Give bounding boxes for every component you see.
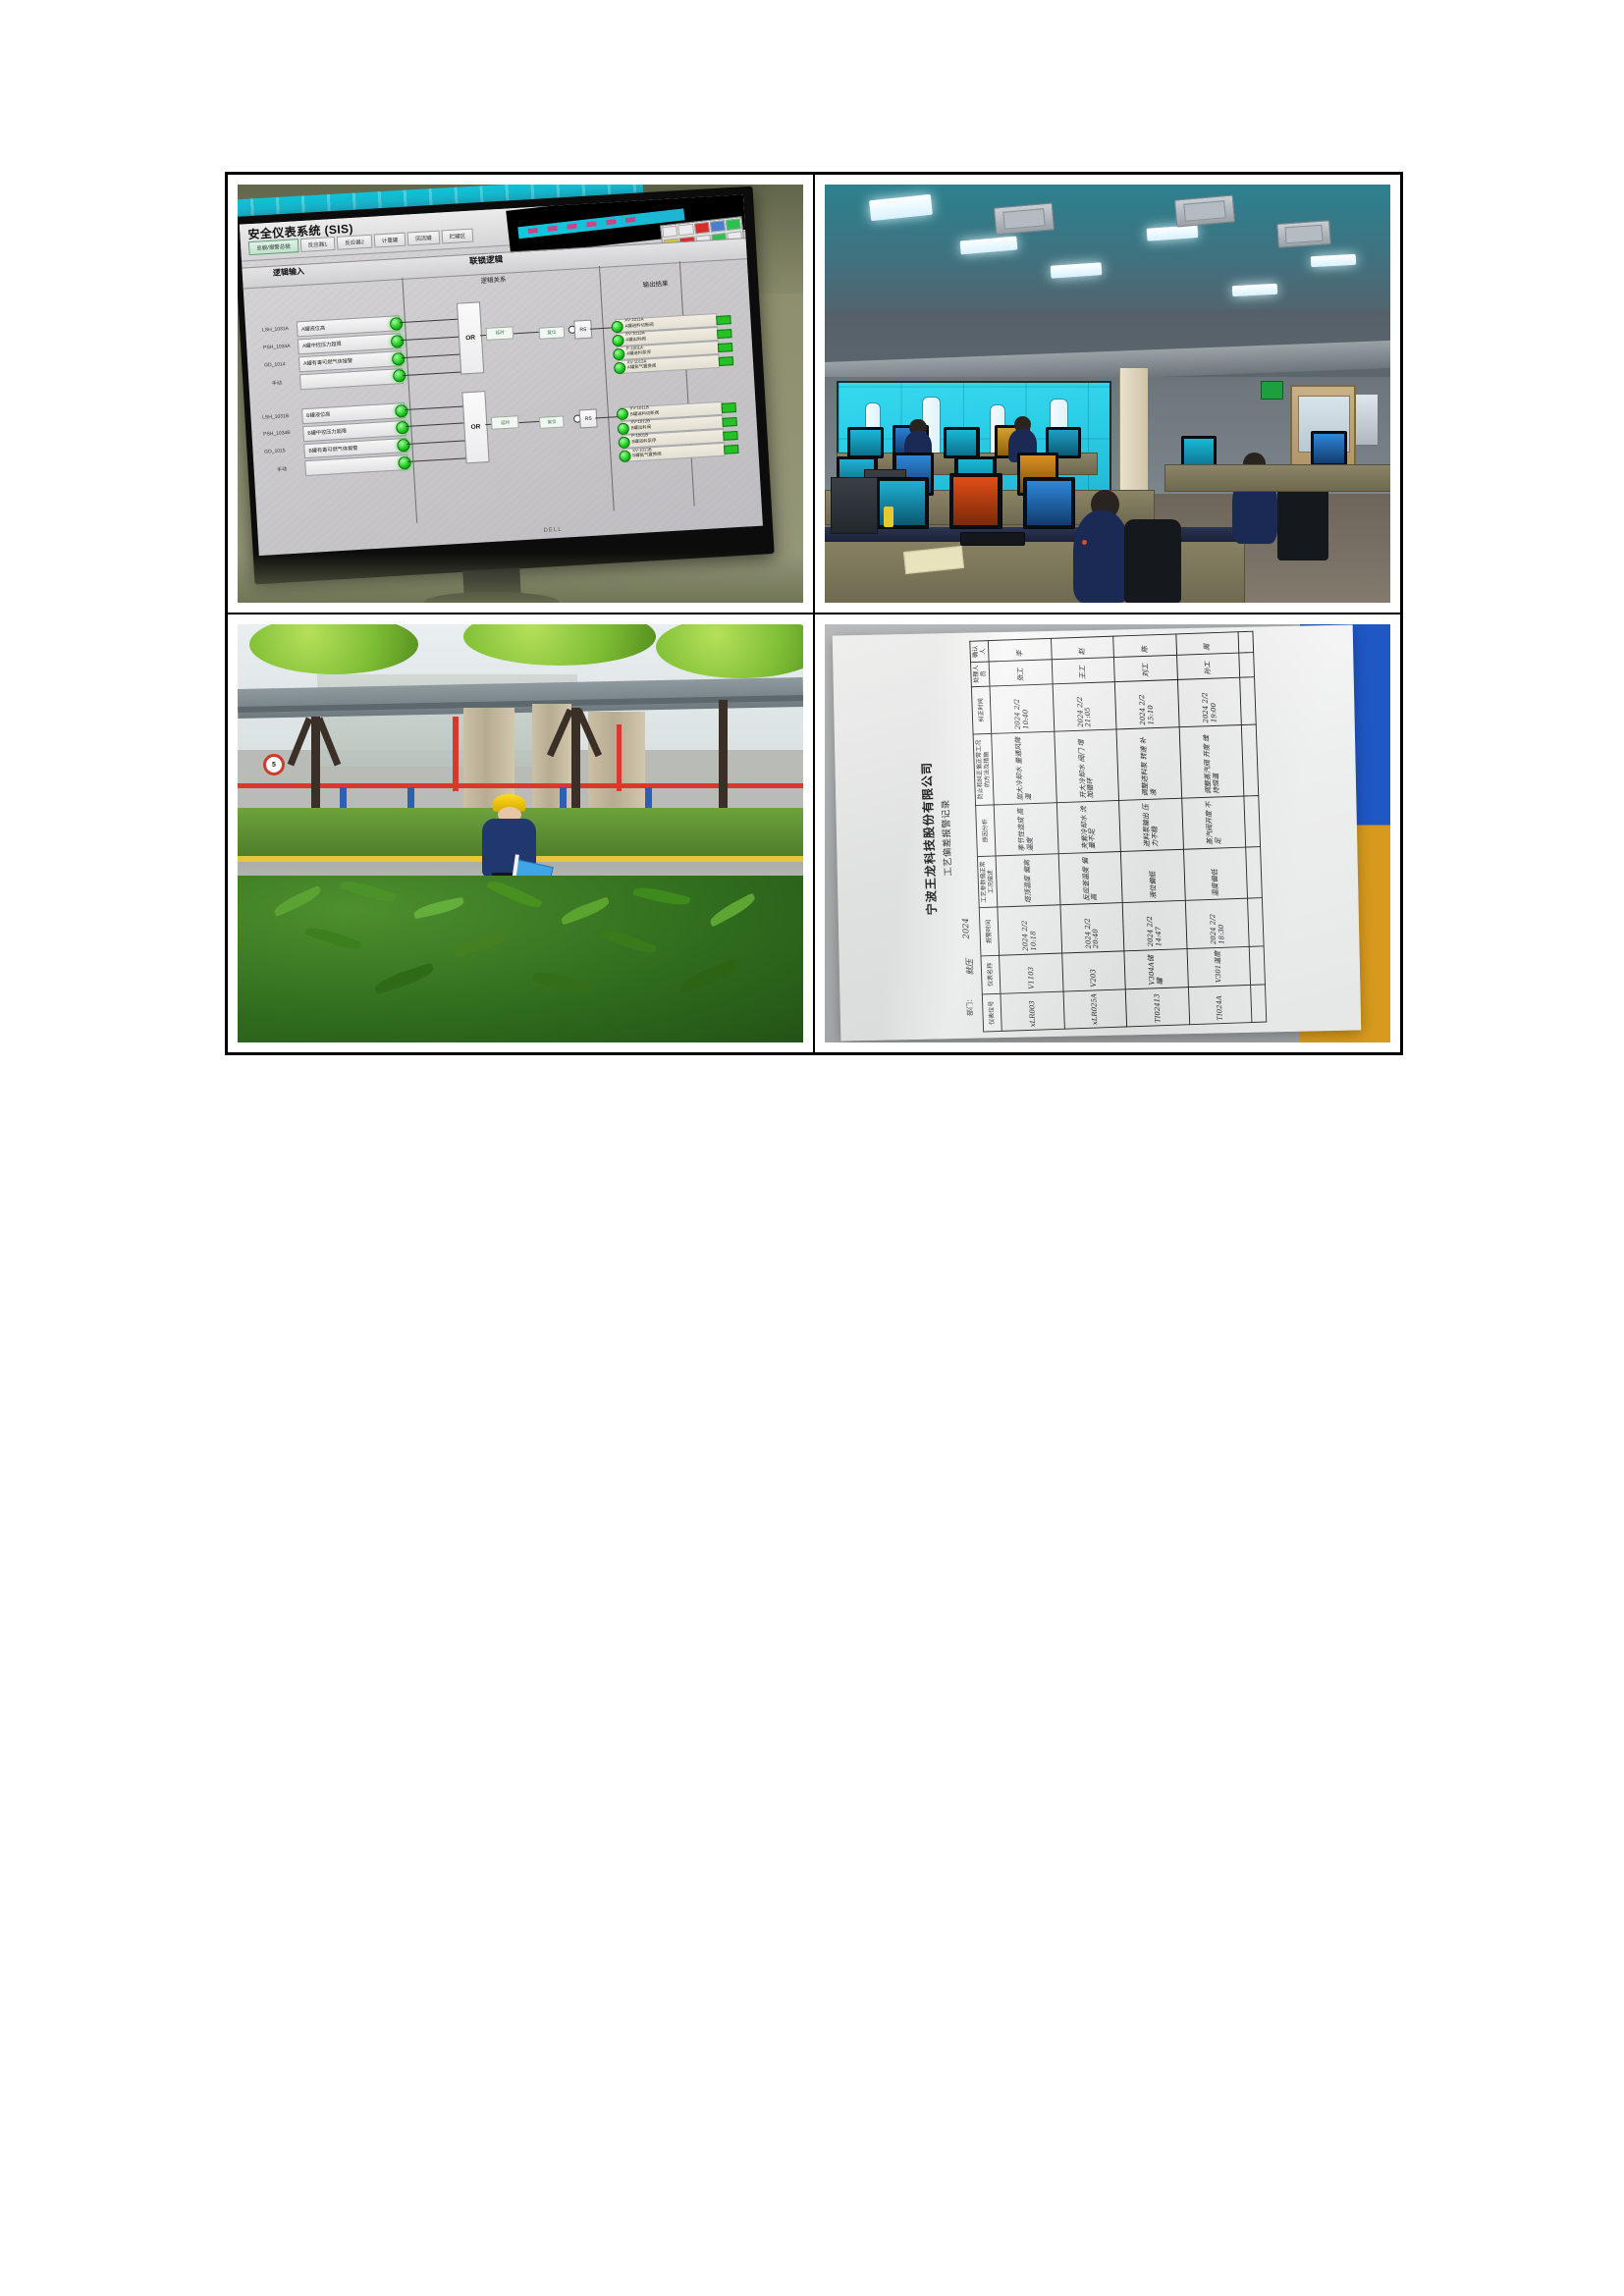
cell-deviation: [1245, 847, 1261, 899]
cell-handler: 王工: [1051, 658, 1114, 684]
input-label: B罐液位高: [302, 411, 331, 420]
output-desc: B罐氮气置换阀: [632, 452, 662, 458]
cell-confirm: 李: [988, 639, 1051, 662]
home-icon[interactable]: [661, 225, 677, 237]
output-status-led: [618, 436, 630, 449]
output-desc: B罐出料阀: [630, 424, 651, 430]
output-state-chip: [724, 445, 738, 454]
cell-handler: 张工: [988, 660, 1052, 686]
signal-wire: [405, 405, 465, 410]
input-label: A罐液位高: [298, 324, 326, 333]
output-label: P-1001BB罐进料泵停: [631, 432, 656, 444]
signal-wire: [401, 336, 461, 341]
col-instrument-name: 仪表名称: [980, 956, 1000, 995]
cell-correct-time: 2024 2/2 15:10: [1114, 680, 1178, 730]
col-alarm-time: 报警时间: [979, 908, 999, 956]
input-tag: PSH_1034B: [263, 430, 291, 438]
col-correction-time: 纠正时间: [971, 686, 991, 734]
output-label: XV-1013BB罐氮气置换阀: [632, 446, 662, 458]
cell-alarm-time: 2024 2/2 10:18: [997, 906, 1060, 956]
cell-cause: [1244, 796, 1260, 847]
cell-correct-time: [1239, 677, 1255, 725]
roadside-tree: [249, 624, 419, 750]
document-page: 安全仪表系统 (SIS) 总貌/报警总貌 反应器1 反应器2 计量罐 回流罐 贮…: [0, 0, 1624, 2296]
cell-cause: 季节性造成 高 温度: [994, 803, 1058, 856]
outdoor-scene: 5: [238, 624, 803, 1042]
cell-tag: xLR025A: [1062, 989, 1126, 1030]
cell-cause: 夹套冷却水 流量不足: [1056, 801, 1120, 854]
operator-monitor: [944, 427, 980, 458]
air-conditioner-vent: [1276, 220, 1330, 248]
console-desk-right: [1164, 464, 1390, 492]
input-label: A罐有毒可燃气体报警: [299, 357, 352, 367]
desk-surface: [238, 553, 803, 603]
record-scene: 宁波王龙科技股份有限公司 工艺偏差报警记录 部门： 就压 2024 仪: [825, 624, 1390, 1042]
table-body: xLR003 V1103 2024 2/2 10:18 塔顶温度 偏高 季节性造…: [988, 632, 1266, 1032]
input-status-led: [395, 403, 408, 417]
department-label: 部门：: [963, 996, 976, 1017]
divider-line-logic: [598, 266, 614, 510]
output-label: XV-1011BB罐进料切断阀: [629, 404, 659, 417]
roadside-tree: [656, 624, 803, 741]
input-row[interactable]: [304, 454, 408, 476]
cell-name: V1103: [999, 954, 1062, 994]
cell-deviation: 反应釜温度 偏高: [1057, 852, 1122, 906]
cell-tag: [1250, 985, 1266, 1023]
form-title: 工艺偏差报警记录: [931, 625, 959, 1042]
office-chair: [1124, 519, 1181, 603]
col-corrective-measures: 防止和纠正偏正常工况的方法及措施: [973, 734, 994, 806]
input-status-led: [398, 456, 411, 470]
tab-reactor-1[interactable]: 反应器1: [299, 237, 335, 252]
operator-monitor: [949, 473, 1002, 529]
input-tag: LSH_1031A: [262, 326, 289, 334]
cell-correct-time: 2024 2/2 21:05: [1052, 682, 1115, 732]
reset-block-b[interactable]: 复位: [539, 415, 565, 429]
air-conditioner-vent: [994, 203, 1055, 236]
rs-latch-a: RS: [573, 320, 591, 340]
col-confirmer: 确认人: [969, 642, 988, 664]
operator-figure-foreground: [1073, 510, 1130, 603]
signal-wire: [400, 318, 460, 323]
output-state-chip: [716, 315, 731, 325]
input-tag: GD_1015: [264, 449, 286, 455]
water-bottle: [884, 507, 893, 527]
output-status-led: [612, 335, 624, 347]
tab-reflux-drum[interactable]: 回流罐: [407, 231, 440, 246]
document-tray-stack: [831, 477, 878, 533]
handwritten-deviation-record-photo: 宁波王龙科技股份有限公司 工艺偏差报警记录 部门： 就压 2024 仪: [825, 624, 1390, 1042]
cell-deviation: 温度偏低: [1183, 848, 1248, 902]
trip-icon[interactable]: [693, 222, 709, 234]
table-header-row: 仪表位号 仪表名称 报警时间 工艺参数偏正常工况描述 原因分析 防止和纠正偏正常…: [969, 642, 1001, 1033]
cell-correct-time: 2024 2/2 19:00: [1177, 678, 1241, 728]
speed-limit-sign: 5: [263, 754, 285, 775]
reset-block-a[interactable]: 复位: [539, 326, 565, 340]
col-cause-analysis: 原因分析: [975, 806, 995, 857]
table-row: [1238, 632, 1266, 1023]
divider-line-outputs: [679, 261, 695, 506]
output-status-led: [611, 320, 623, 333]
monitor-brand-label: DELL: [543, 527, 562, 534]
cell-handler: [1238, 653, 1253, 677]
cell-name: [1249, 946, 1265, 986]
input-status-led: [390, 317, 404, 331]
signal-wire: [406, 441, 467, 446]
cell-deviation: 塔顶温度 偏高: [995, 854, 1059, 908]
figure-cell-bottom-right: 宁波王龙科技股份有限公司 工艺偏差报警记录 部门： 就压 2024 仪: [814, 614, 1401, 1053]
delay-block-b: 延时: [491, 416, 518, 430]
input-label: B罐有毒可燃气体报警: [304, 445, 357, 454]
input-status-led: [393, 369, 406, 383]
cell-measure: 开大冷却水 阀门 增加循环: [1054, 730, 1118, 804]
output-desc: A罐进料切断阀: [624, 322, 654, 329]
cell-measure: 调整蒸汽阀 开度 维持恒温: [1178, 725, 1243, 799]
tab-metering-tank[interactable]: 计量罐: [373, 233, 406, 248]
input-status-led: [391, 335, 405, 348]
output-state-chip: [722, 417, 736, 427]
cell-name: V301温度: [1186, 947, 1250, 988]
cell-alarm-time: 2024 2/2 18:30: [1184, 899, 1248, 949]
monitor-bezel: 安全仪表系统 (SIS) 总貌/报警总貌 反应器1 反应器2 计量罐 回流罐 贮…: [238, 187, 774, 585]
cell-cause: 进料泵输出 压力不稳: [1118, 799, 1183, 852]
cell-measure: 调整进料泵 转速 补液: [1116, 727, 1181, 801]
output-desc: B罐进料泵停: [631, 438, 656, 444]
cell-alarm-time: [1247, 899, 1263, 947]
fire-water-riser: [453, 717, 459, 792]
or-gate-b: OR: [461, 391, 489, 463]
cell-handler: 刘工: [1113, 656, 1177, 682]
output-label: XV-1012BB罐出料阀: [630, 418, 651, 430]
cell-alarm-time: 2024 2/2 20:40: [1059, 904, 1123, 954]
year-value: 2024: [961, 919, 974, 940]
status-ok-icon[interactable]: [725, 218, 740, 230]
rs-latch-b: RS: [579, 409, 597, 429]
cell-confirm: [1238, 632, 1253, 653]
roadside-tree: [463, 624, 656, 733]
cell-name: V304A储罐: [1123, 949, 1187, 989]
cell-deviation: 液位偏低: [1120, 850, 1185, 904]
cell-measure: 加大冷却水 量通风降温: [991, 732, 1056, 806]
output-status-led: [617, 422, 629, 435]
operator-monitor: [1023, 477, 1076, 529]
air-conditioner-vent: [1174, 194, 1235, 227]
input-status-led: [392, 352, 406, 366]
output-desc: A罐氮气置换阀: [627, 363, 657, 370]
tab-reactor-2[interactable]: 反应器2: [337, 235, 372, 250]
tree-trunk: [719, 700, 728, 826]
delay-block-a: 延时: [486, 326, 514, 340]
figure-grid: 安全仪表系统 (SIS) 总貌/报警总貌 反应器1 反应器2 计量罐 回流罐 贮…: [225, 172, 1403, 1055]
company-name: 宁波王龙科技股份有限公司: [911, 626, 944, 1042]
table-row: TI02413 V304A储罐 2024 2/2 14:47 液位偏低 进料泵输…: [1112, 635, 1189, 1028]
signal-wire: [403, 371, 463, 376]
input-tag: LSH_1031B: [262, 413, 289, 421]
tab-tank-farm[interactable]: 贮罐区: [441, 229, 473, 244]
input-row[interactable]: [298, 368, 403, 390]
output-label: XV-1013AA罐氮气置换阀: [626, 358, 656, 371]
cell-handler: 孙工: [1176, 654, 1240, 680]
sis-interlock-screen-photo: 安全仪表系统 (SIS) 总貌/报警总貌 反应器1 反应器2 计量罐 回流罐 贮…: [238, 185, 803, 603]
input-tag: 手动: [277, 465, 287, 473]
foreground-hedge: [238, 876, 803, 1042]
input-status-led: [396, 421, 409, 435]
cell-tag: TI02413: [1125, 988, 1189, 1028]
table-row: xLR003 V1103 2024 2/2 10:18 塔顶温度 偏高 季节性造…: [988, 639, 1064, 1032]
output-label: XV-1011AA罐进料切断阀: [624, 316, 654, 329]
signal-wire: [407, 458, 468, 463]
fire-water-riser: [617, 724, 622, 791]
input-label: A罐中控压力超限: [298, 341, 342, 350]
sis-screen: 安全仪表系统 (SIS) 总貌/报警总貌 反应器1 反应器2 计量罐 回流罐 贮…: [240, 194, 763, 555]
input-tag: 手动: [271, 379, 281, 387]
table-row: TI024A V301温度 2024 2/2 18:30 温度偏低 蒸汽阀开度 …: [1175, 633, 1252, 1026]
col-deviation-description: 工艺参数偏正常工况描述: [977, 856, 997, 908]
exit-sign-icon: [1261, 381, 1282, 400]
output-desc: A罐出料阀: [625, 336, 646, 342]
input-status-led: [397, 439, 410, 453]
input-tag: PSH_1034A: [263, 344, 291, 351]
or-gate-a: OR: [457, 301, 484, 374]
cell-tag: TI024A: [1188, 986, 1252, 1026]
figure-cell-bottom-left: 5: [227, 614, 814, 1053]
deviation-record-table: 仪表位号 仪表名称 报警时间 工艺参数偏正常工况描述 原因分析 防止和纠正偏正常…: [969, 632, 1267, 1034]
cell-cause: 蒸汽阀开度 不足: [1181, 797, 1246, 850]
cell-confirm: 陈: [1112, 635, 1175, 658]
console-desk-front: [825, 532, 1245, 603]
output-state-chip: [723, 431, 737, 441]
signal-wire: [402, 353, 462, 358]
cell-tag: xLR003: [1000, 992, 1063, 1033]
output-state-chip: [717, 329, 731, 339]
cell-measure: [1241, 725, 1258, 797]
output-state-chip: [719, 356, 733, 366]
logic-column-header: 联锁逻辑: [468, 253, 503, 267]
divider-line-inputs: [402, 278, 417, 522]
input-label: B罐中控压力超限: [303, 428, 347, 438]
table-row: xLR025A V203 2024 2/2 20:40 反应釜温度 偏高 夹套冷…: [1051, 637, 1127, 1030]
inputs-column-header: 逻辑输入: [272, 266, 304, 279]
department-value: 就压: [962, 959, 975, 976]
form-meta: 部门： 就压 2024: [951, 659, 976, 1016]
keyboard: [960, 532, 1024, 547]
output-desc: B罐进料切断阀: [629, 409, 659, 416]
alarm-icon[interactable]: [677, 224, 693, 236]
cell-alarm-time: 2024 2/2 14:47: [1122, 901, 1186, 951]
output-label: XV-1012AA罐出料阀: [625, 331, 646, 343]
tab-overview[interactable]: 总貌/报警总貌: [248, 240, 298, 256]
operator-monitor: [1311, 431, 1347, 466]
cell-correct-time: 2024 2/2 10:40: [989, 684, 1053, 734]
plant-road-inspection-photo: 5: [238, 624, 803, 1042]
output-state-chip: [722, 402, 736, 412]
figure-cell-top-right: [814, 174, 1401, 614]
trend-icon[interactable]: [709, 220, 725, 232]
record-sheet-content: 宁波王龙科技股份有限公司 工艺偏差报警记录 部门： 就压 2024 仪: [911, 624, 1280, 1042]
outputs-column-header: 输出结果: [642, 277, 669, 289]
col-instrument-tag: 仪表位号: [982, 994, 1001, 1033]
col-handler: 处理人员: [970, 663, 989, 687]
operator-monitor: [847, 427, 884, 458]
signal-wire: [406, 423, 466, 428]
structural-column: [1119, 368, 1149, 502]
input-tag: GD_1014: [264, 361, 286, 368]
cell-confirm: 周: [1175, 633, 1238, 656]
control-room-photo: [825, 185, 1390, 603]
control-room-scene: [825, 185, 1390, 603]
cell-confirm: 赵: [1051, 637, 1113, 660]
cell-name: V203: [1061, 951, 1125, 991]
output-state-chip: [718, 343, 732, 352]
output-label: P-1001AA罐进料泵停: [625, 345, 650, 356]
output-desc: A罐进料泵停: [626, 349, 651, 355]
record-sheet: 宁波王龙科技股份有限公司 工艺偏差报警记录 部门： 就压 2024 仪: [832, 625, 1360, 1041]
logic-sub-header: 逻辑关系: [480, 274, 507, 286]
figure-cell-top-left: 安全仪表系统 (SIS) 总貌/报警总貌 反应器1 反应器2 计量罐 回流罐 贮…: [227, 174, 814, 614]
output-status-led: [619, 450, 631, 462]
